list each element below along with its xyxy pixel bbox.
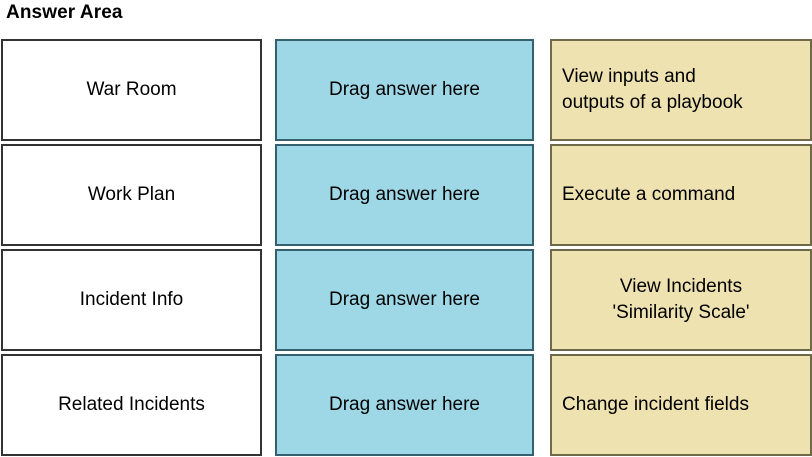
term-cell-work-plan: Work Plan (1, 144, 262, 246)
table-row: Work Plan Drag answer here Execute a com… (0, 144, 812, 246)
term-cell-related-incidents: Related Incidents (1, 354, 262, 456)
answer-option-label: Change incident fields (552, 392, 749, 418)
table-row: War Room Drag answer here View inputs an… (0, 39, 812, 141)
term-cell-war-room: War Room (1, 39, 262, 141)
drop-target-label: Drag answer here (329, 288, 480, 312)
answer-option-label: View inputs and outputs of a playbook (552, 64, 743, 116)
answer-option-3[interactable]: View Incidents 'Similarity Scale' (550, 249, 812, 351)
drop-target-4[interactable]: Drag answer here (275, 354, 534, 456)
term-cell-incident-info: Incident Info (1, 249, 262, 351)
answer-option-label: Execute a command (552, 182, 735, 208)
page-title: Answer Area (6, 0, 123, 26)
drop-target-3[interactable]: Drag answer here (275, 249, 534, 351)
drop-target-label: Drag answer here (329, 78, 480, 102)
term-label: Related Incidents (58, 393, 205, 417)
table-row: Related Incidents Drag answer here Chang… (0, 354, 812, 456)
term-label: Work Plan (88, 183, 175, 207)
answer-option-4[interactable]: Change incident fields (550, 354, 812, 456)
term-label: Incident Info (80, 288, 184, 312)
answer-option-1[interactable]: View inputs and outputs of a playbook (550, 39, 812, 141)
answer-option-label: View Incidents 'Similarity Scale' (552, 274, 810, 326)
term-label: War Room (86, 78, 176, 102)
drop-target-1[interactable]: Drag answer here (275, 39, 534, 141)
answer-area-grid: War Room Drag answer here View inputs an… (0, 39, 812, 457)
drop-target-2[interactable]: Drag answer here (275, 144, 534, 246)
drop-target-label: Drag answer here (329, 393, 480, 417)
table-row: Incident Info Drag answer here View Inci… (0, 249, 812, 351)
answer-option-2[interactable]: Execute a command (550, 144, 812, 246)
drop-target-label: Drag answer here (329, 183, 480, 207)
